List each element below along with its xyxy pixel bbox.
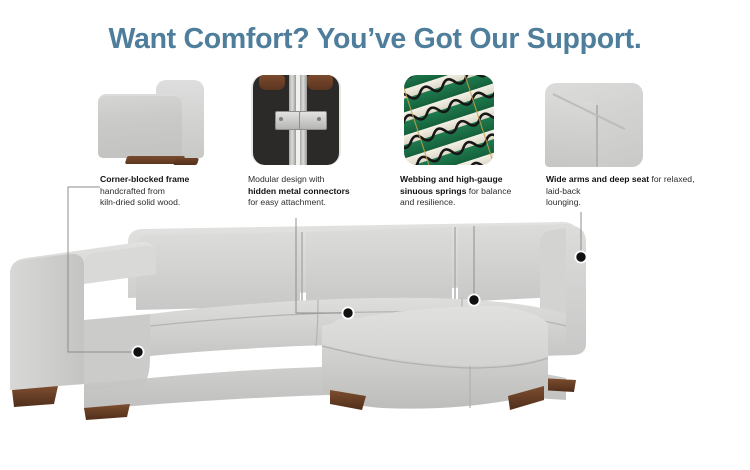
connector-wood-top-right: [307, 75, 333, 90]
sofa-left-seat-front: [84, 314, 150, 390]
callout-webbing-springs: Webbing and high-gauge sinuous springs f…: [400, 174, 520, 209]
callout-3-line2: and resilience.: [400, 197, 455, 207]
sinuous-springs: [404, 75, 494, 165]
page-title: Want Comfort? You’ve Got Our Support.: [0, 24, 750, 55]
sofa-left-arm-front: [10, 254, 84, 390]
connector-bolt-left: [279, 117, 283, 121]
callout-4-bold: Wide arms and deep seat: [546, 174, 649, 184]
callout-4-line2: lounging.: [546, 197, 581, 207]
callout-2-pre: Modular design with: [248, 174, 324, 184]
thumbnail-arm: [98, 96, 182, 158]
modular-metal-connector-thumbnail: [251, 75, 341, 165]
sofa-back-cushion-center: [306, 227, 452, 306]
thumbnail-wood-foot-rear: [173, 158, 199, 165]
connector-bolt-right: [317, 117, 321, 121]
callout-3-line1: for balance: [466, 186, 511, 196]
callout-hidden-metal-connectors: Modular design with hidden metal connect…: [248, 174, 378, 209]
callout-2-bold: hidden metal connectors: [248, 186, 350, 196]
connector-wood-top-left: [259, 75, 285, 90]
callout-1-line2: kiln-dried solid wood.: [100, 197, 180, 207]
connector-bracket-right: [299, 111, 327, 130]
callout-1-line1: handcrafted from: [100, 186, 165, 196]
sofa-back-cushion-left: [136, 232, 300, 310]
callout-1-bold: Corner-blocked frame: [100, 174, 189, 184]
wide-arm-corner-thumbnail: [545, 75, 643, 167]
callout-wide-arms-deep-seat: Wide arms and deep seat for relaxed, lai…: [546, 174, 696, 209]
webbing-weave: [404, 75, 494, 165]
callout-corner-blocked-frame: Corner-blocked frame handcrafted from ki…: [100, 174, 235, 209]
callout-2-line1: for easy attachment.: [248, 197, 326, 207]
promo-graphic: Want Comfort? You’ve Got Our Support.: [0, 0, 750, 470]
green-webbing-springs-thumbnail: [404, 75, 494, 165]
modular-sectional-sofa-with-ottoman: [0, 214, 750, 434]
sofa-corner-frame-thumbnail: [96, 74, 206, 166]
